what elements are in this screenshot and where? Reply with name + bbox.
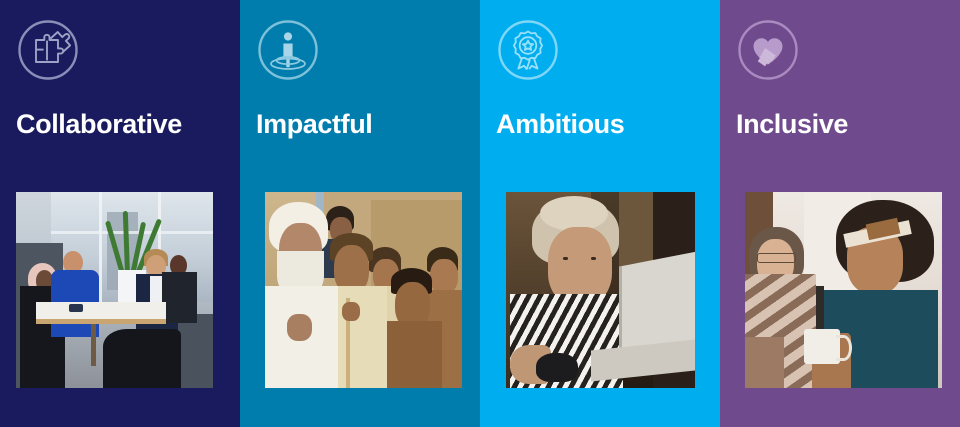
- value-photo-ambitious: [506, 192, 695, 388]
- value-panel-impactful: Impactful: [240, 0, 480, 427]
- puzzle-pieces-icon: [16, 18, 80, 82]
- value-panel-collaborative: Collaborative: [0, 0, 240, 427]
- value-panel-inclusive: Inclusive: [720, 0, 960, 427]
- value-panel-ambitious: Ambitious: [480, 0, 720, 427]
- value-photo-impactful: [265, 192, 462, 388]
- award-rosette-icon: [496, 18, 560, 82]
- value-title-inclusive: Inclusive: [736, 108, 848, 140]
- value-photo-inclusive: [745, 192, 942, 388]
- value-title-collaborative: Collaborative: [16, 108, 182, 140]
- values-board: Collaborative: [0, 0, 960, 427]
- value-title-impactful: Impactful: [256, 108, 372, 140]
- value-photo-collaborative: [16, 192, 213, 388]
- person-in-ripples-icon: [256, 18, 320, 82]
- value-title-ambitious: Ambitious: [496, 108, 624, 140]
- hands-heart-icon: [736, 18, 800, 82]
